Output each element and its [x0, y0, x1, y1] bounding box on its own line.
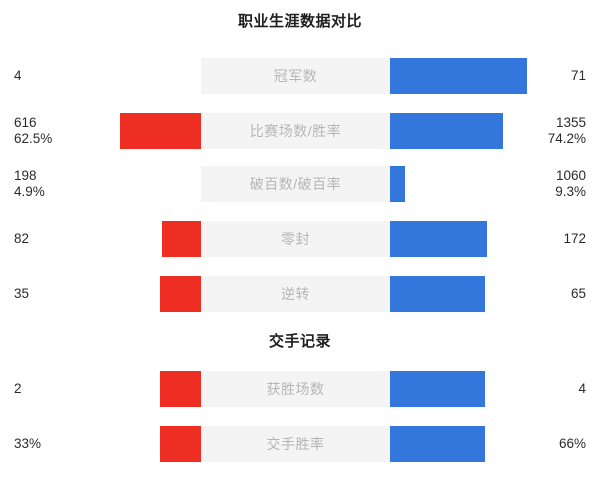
- right-bar: [390, 166, 405, 202]
- right-value: 172: [563, 219, 586, 259]
- left-value: 2: [14, 369, 22, 409]
- comparison-row: 82零封172: [0, 219, 600, 259]
- right-value-main: 1060: [556, 168, 586, 184]
- right-value-sub: 74.2%: [548, 131, 586, 147]
- right-value-main: 4: [578, 381, 586, 397]
- section-title-head-to-head: 交手记录: [0, 330, 600, 351]
- right-value-main: 66%: [559, 436, 586, 452]
- metric-label: 冠军数: [201, 58, 390, 94]
- right-bar: [390, 371, 485, 407]
- right-value: 10609.3%: [555, 164, 586, 204]
- right-value-sub: 9.3%: [555, 184, 586, 200]
- stats-comparison-panel: 职业生涯数据对比 交手记录 4冠军数7161662.5%比赛场数/胜率13557…: [0, 0, 600, 480]
- metric-label: 破百数/破百率: [201, 166, 390, 202]
- left-value-main: 82: [14, 231, 29, 247]
- left-value-main: 198: [14, 168, 37, 184]
- comparison-row: 4冠军数71: [0, 56, 600, 96]
- comparison-row: 33%交手胜率66%: [0, 424, 600, 464]
- comparison-row: 35逆转65: [0, 274, 600, 314]
- right-value-main: 172: [563, 231, 586, 247]
- left-bar: [120, 113, 210, 149]
- left-value-sub: 62.5%: [14, 131, 52, 147]
- comparison-row: 61662.5%比赛场数/胜率135574.2%: [0, 111, 600, 151]
- right-value-main: 71: [571, 68, 586, 84]
- metric-label: 获胜场数: [201, 371, 390, 407]
- right-value: 4: [578, 369, 586, 409]
- right-bar: [390, 426, 485, 462]
- right-value-main: 1355: [556, 115, 586, 131]
- left-value: 4: [14, 56, 22, 96]
- right-bar: [390, 58, 527, 94]
- bar-track-wrapper: 零封: [110, 219, 530, 259]
- left-value-main: 35: [14, 286, 29, 302]
- bar-track-wrapper: 破百数/破百率: [110, 164, 530, 204]
- right-value: 65: [571, 274, 586, 314]
- bar-track-wrapper: 比赛场数/胜率: [110, 111, 530, 151]
- left-value: 1984.9%: [14, 164, 45, 204]
- metric-label: 零封: [201, 221, 390, 257]
- left-value-main: 616: [14, 115, 37, 131]
- left-value-main: 2: [14, 381, 22, 397]
- bar-track-wrapper: 交手胜率: [110, 424, 530, 464]
- comparison-row: 2获胜场数4: [0, 369, 600, 409]
- bar-track-wrapper: 逆转: [110, 274, 530, 314]
- bar-track-wrapper: 获胜场数: [110, 369, 530, 409]
- right-bar: [390, 276, 485, 312]
- right-value: 135574.2%: [548, 111, 586, 151]
- left-value: 82: [14, 219, 29, 259]
- comparison-row: 1984.9%破百数/破百率10609.3%: [0, 164, 600, 204]
- right-value-main: 65: [571, 286, 586, 302]
- right-value: 66%: [559, 424, 586, 464]
- left-value-main: 4: [14, 68, 22, 84]
- left-value: 35: [14, 274, 29, 314]
- left-value-main: 33%: [14, 436, 41, 452]
- left-value-sub: 4.9%: [14, 184, 45, 200]
- right-bar: [390, 113, 503, 149]
- left-value: 33%: [14, 424, 41, 464]
- bar-track-wrapper: 冠军数: [110, 56, 530, 96]
- metric-label: 交手胜率: [201, 426, 390, 462]
- metric-label: 比赛场数/胜率: [201, 113, 390, 149]
- right-bar: [390, 221, 487, 257]
- metric-label: 逆转: [201, 276, 390, 312]
- left-value: 61662.5%: [14, 111, 52, 151]
- section-title-career: 职业生涯数据对比: [0, 10, 600, 31]
- right-value: 71: [571, 56, 586, 96]
